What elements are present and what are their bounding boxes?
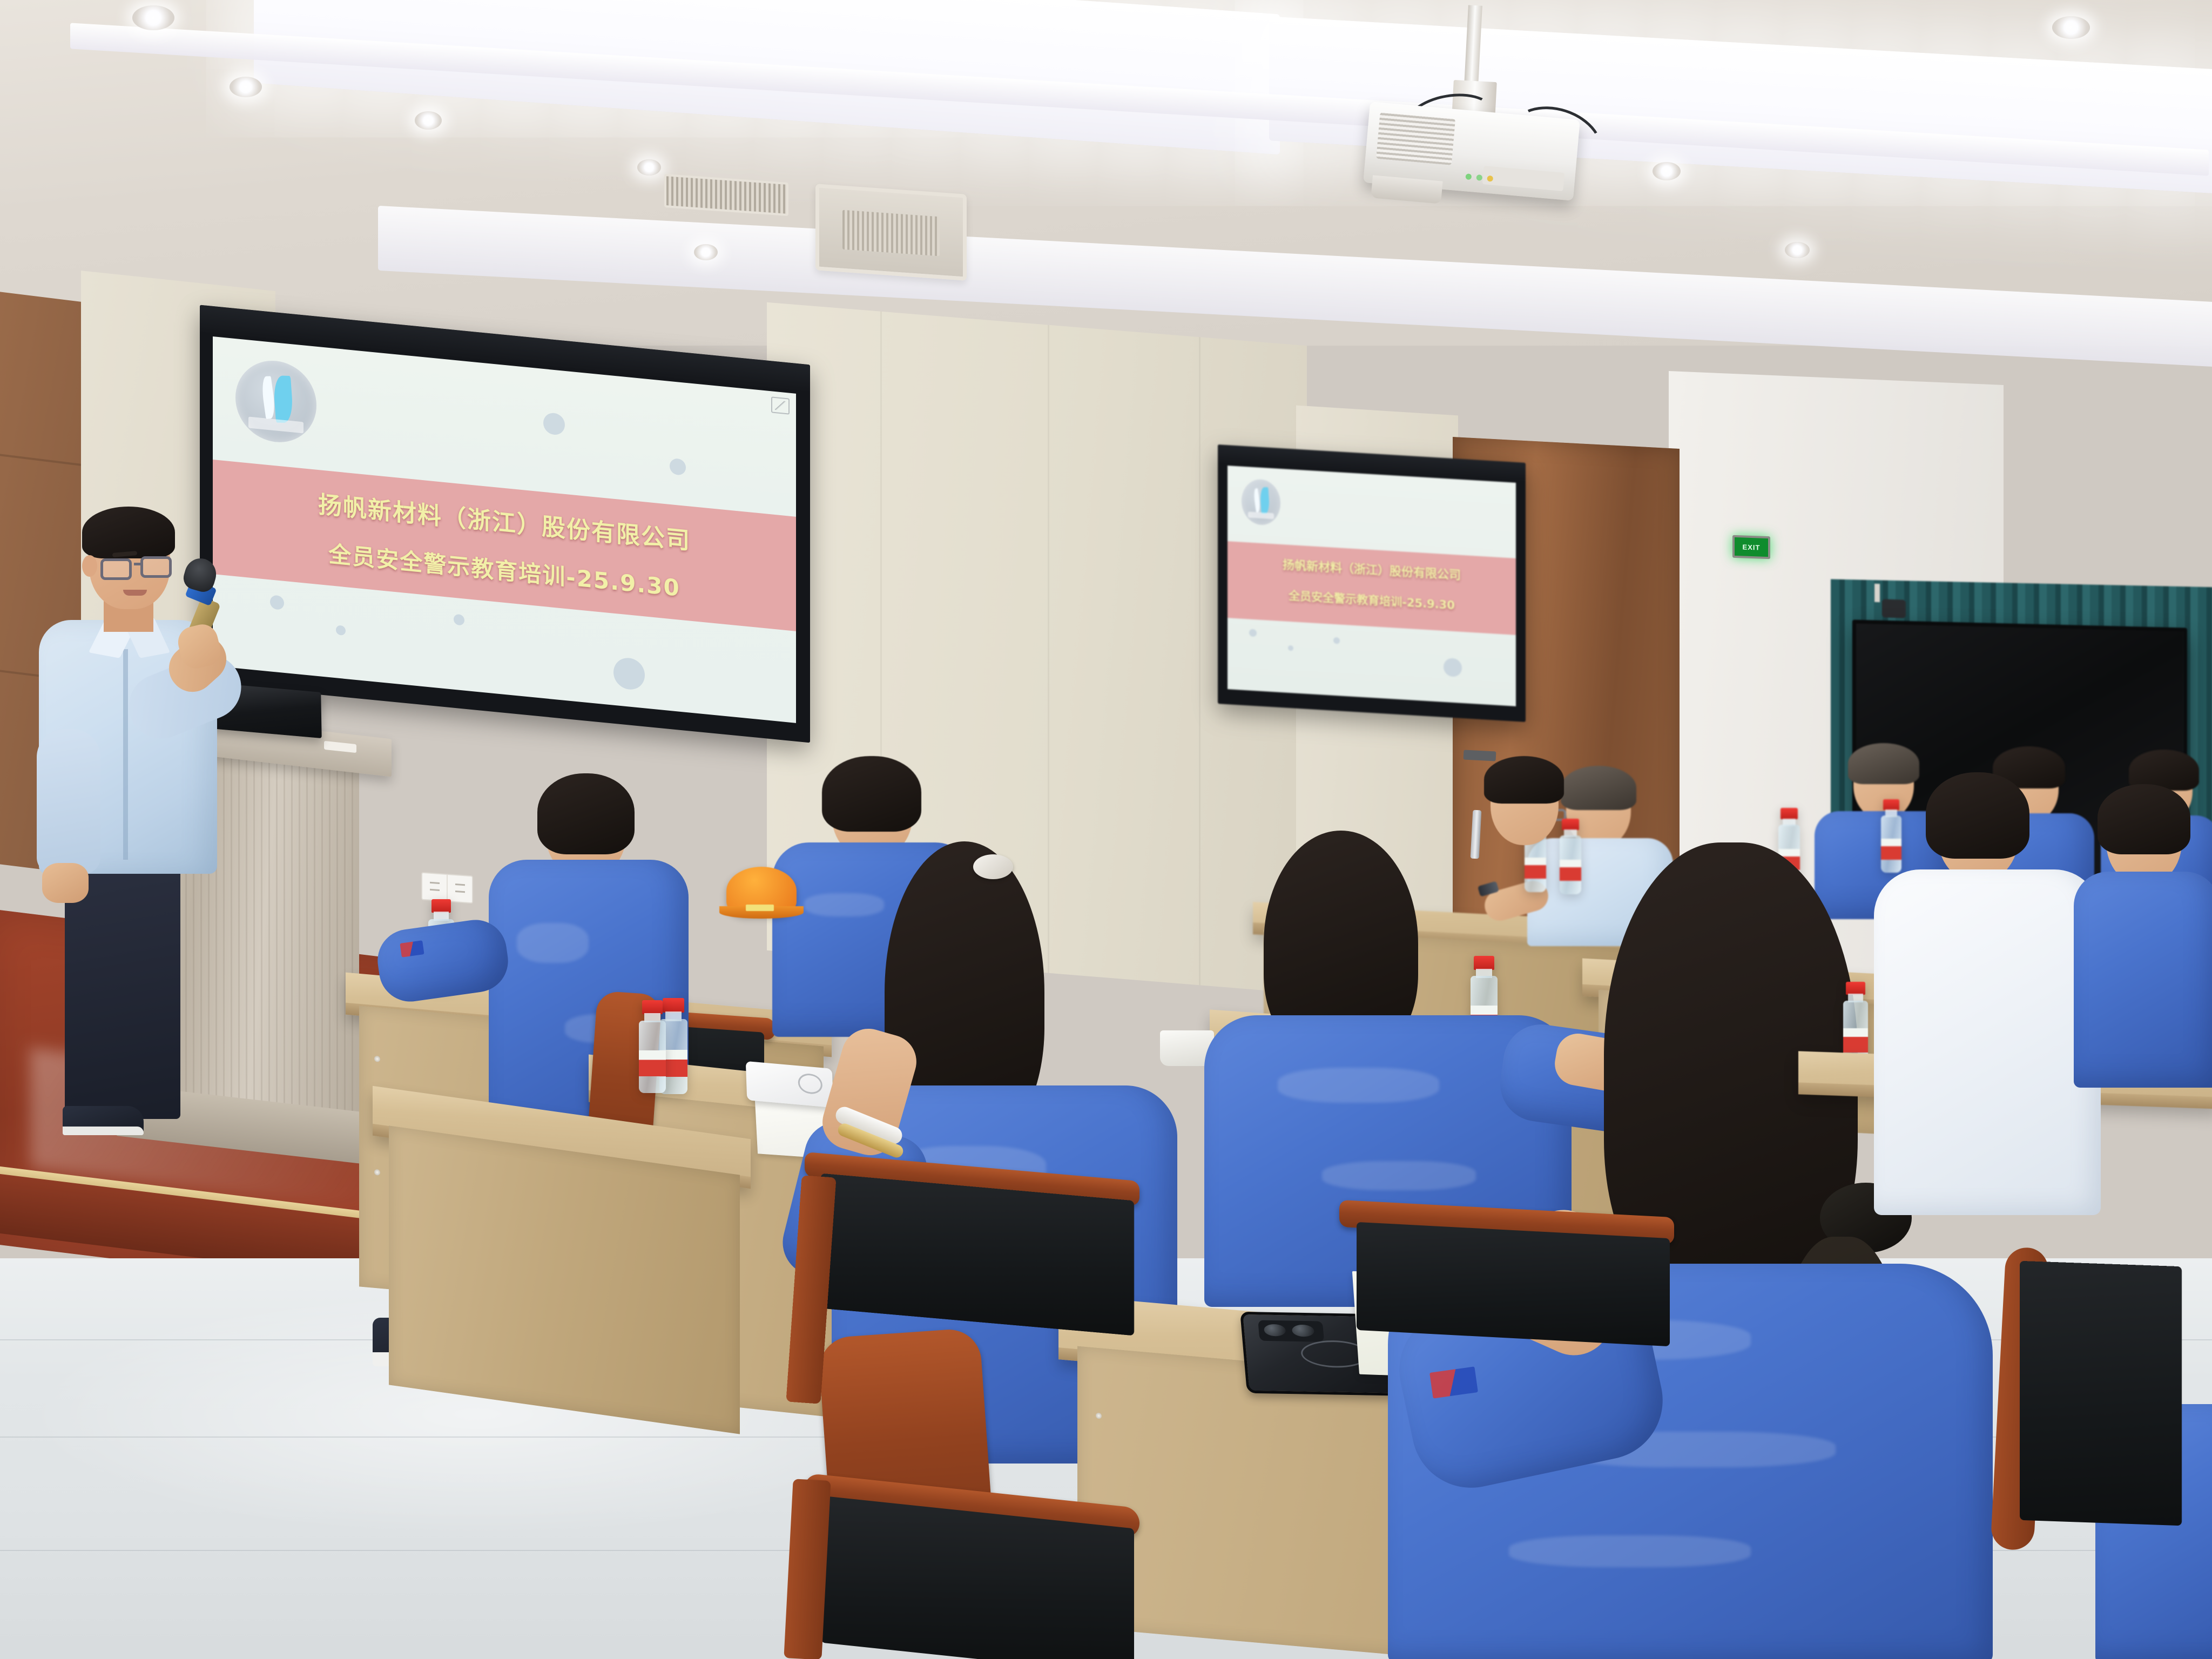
downlight-icon [1653, 162, 1681, 180]
emergency-exit-sign: EXIT [1732, 535, 1770, 559]
attendee-shirt [1874, 869, 2101, 1215]
safety-helmet-icon [726, 867, 797, 915]
presenter-shoe [63, 1106, 144, 1135]
eyeglasses-icon [140, 556, 172, 578]
downlight-icon [132, 5, 174, 30]
attendee-hair [1848, 743, 1919, 784]
chair-back [821, 1174, 1134, 1336]
water-bottle [637, 1000, 667, 1093]
exit-sign-label: EXIT [1743, 543, 1761, 551]
downlight-icon [694, 244, 718, 260]
ac-cassette-unit [815, 184, 967, 281]
attendee-uniform [2074, 872, 2212, 1088]
hair-scrunchie [973, 854, 1013, 879]
yangfan-sail-logo-icon [235, 357, 316, 446]
cove-light-lower [378, 206, 2212, 367]
chair-back [2020, 1261, 2182, 1526]
secondary-slide-canvas: 扬帆新材料（浙江）股份有限公司 全员安全警示教育培训-25.9.30 [1228, 466, 1516, 706]
downlight-icon [1785, 242, 1810, 258]
attendee-hair [2098, 784, 2190, 854]
attendee-hair [537, 773, 635, 854]
downlight-icon [415, 111, 442, 130]
attendee-hair [822, 756, 921, 832]
chair-back [1357, 1222, 1670, 1346]
yangfan-sail-logo-icon [1242, 478, 1280, 526]
presenter [32, 502, 265, 1150]
water-bottle [1558, 819, 1583, 894]
attendee-hair [1484, 756, 1564, 804]
white-smartphone[interactable] [746, 1061, 833, 1108]
attendee-hair [1926, 772, 2029, 859]
door-lockplate [1464, 750, 1496, 761]
security-camera-icon [1882, 599, 1906, 618]
air-vent-grille [664, 174, 788, 216]
water-bottle [1879, 799, 1903, 873]
downlight-icon [637, 159, 661, 176]
conference-room-photo: EXIT 扬帆新材料（浙江）股份有限公司 全员安全警示教育培训-25.9.30 [0, 0, 2212, 1659]
downlight-icon [2052, 16, 2090, 39]
attendee-hair [1561, 766, 1636, 810]
downlight-icon [230, 77, 262, 97]
screen-corner-icon [771, 396, 790, 414]
main-slide-canvas: 扬帆新材料（浙江）股份有限公司 全员安全警示教育培训-25.9.30 [213, 336, 796, 723]
desk-panel [389, 1125, 740, 1434]
ceiling [0, 0, 2212, 346]
eyeglasses-icon [100, 558, 132, 580]
main-projection-screen: 扬帆新材料（浙江）股份有限公司 全员安全警示教育培训-25.9.30 [200, 305, 810, 743]
secondary-projection-screen: 扬帆新材料（浙江）股份有限公司 全员安全警示教育培训-25.9.30 [1218, 444, 1526, 722]
